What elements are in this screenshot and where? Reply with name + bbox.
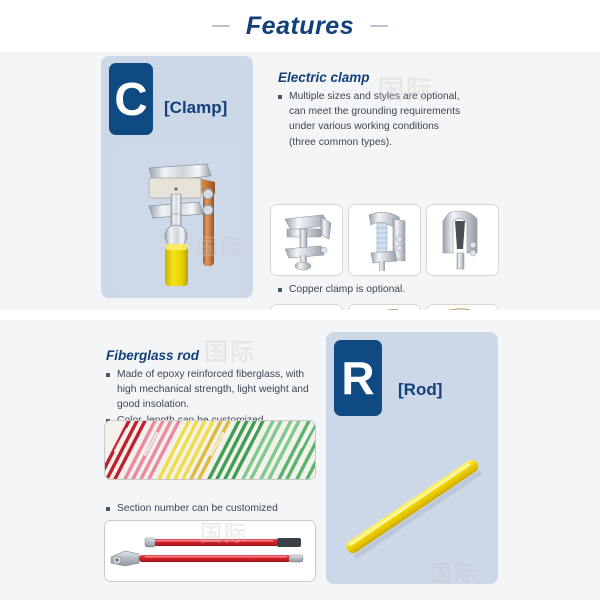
clamp-badge: C [109, 63, 153, 135]
yellow-rod-svg [326, 428, 498, 584]
clamp-photo-1 [270, 204, 343, 276]
header-dash-right [370, 25, 388, 27]
rod-main-photo [326, 428, 498, 584]
clamp-bullet-2: can meet the grounding requirements [278, 105, 508, 119]
rod-panel: R [Rod] [326, 332, 498, 584]
clamp-photo-3 [426, 204, 499, 276]
section-note-item: Section number can be customized [106, 502, 318, 516]
rod-bundle-svg [105, 421, 315, 479]
copper-note-block: Copper clamp is optional. [278, 283, 508, 298]
copper-note-item: Copper clamp is optional. [278, 283, 508, 297]
clamp-panel: C [Clamp] [101, 56, 253, 298]
rod-badge-letter: R [341, 351, 374, 405]
page-title: Features [246, 12, 354, 41]
rod-bullet-text-1: Made of epoxy reinforced fiberglass, wit… [117, 369, 304, 380]
clamp-badge-letter: C [114, 72, 147, 126]
rod-sections-svg [105, 521, 315, 581]
rod-heading: Fiberglass rod [106, 348, 318, 363]
rod-bullet-1: Made of epoxy reinforced fiberglass, wit… [106, 368, 318, 382]
clamp-bullet-4: (three common types). [278, 136, 508, 150]
features-page: Features C [Clamp] [0, 0, 600, 600]
clamp-bullet-1: Multiple sizes and styles are optional, [278, 90, 508, 104]
page-header: Features [0, 0, 600, 52]
bullet-square-icon [106, 373, 110, 377]
bullet-square-icon [278, 95, 282, 99]
rod-badge: R [334, 340, 382, 416]
bullet-square-icon [106, 507, 110, 511]
clamp-photo-svg [119, 148, 235, 290]
rod-bullet-3: good insolation. [106, 398, 318, 412]
rod-bundle-photo [104, 420, 316, 480]
section-note-list: Section number can be customized [106, 502, 318, 516]
clamp-main-photo [119, 148, 235, 290]
clamp-badge-label: [Clamp] [164, 98, 227, 118]
rod-bullet-text-2: high mechanical strength, light weight a… [117, 384, 309, 395]
rod-sections-photo [104, 520, 316, 582]
section-note-text: Section number can be customized [117, 503, 278, 514]
header-dash-left [212, 25, 230, 27]
clamp-bullet-text-3: under various working conditions [289, 121, 439, 132]
section-note-block: Section number can be customized [106, 502, 318, 517]
rod-text-block: Fiberglass rod Made of epoxy reinforced … [106, 348, 318, 429]
clamp-section: C [Clamp] [0, 52, 600, 310]
rod-badge-label: [Rod] [398, 380, 442, 400]
clamp-photo-2 [348, 204, 421, 276]
clamp-type-3-icon [427, 205, 498, 275]
section-divider [0, 310, 600, 320]
clamp-bullet-text-4: (three common types). [289, 137, 392, 148]
clamp-bullet-text-2: can meet the grounding requirements [289, 106, 460, 117]
rod-bullet-text-3: good insolation. [117, 399, 189, 410]
clamp-type-2-icon [349, 205, 420, 275]
copper-note-list: Copper clamp is optional. [278, 283, 508, 297]
clamp-bullet-3: under various working conditions [278, 120, 508, 134]
clamp-text-block: Electric clamp Multiple sizes and styles… [278, 70, 508, 151]
copper-note-text: Copper clamp is optional. [289, 284, 405, 295]
bullet-square-icon [278, 288, 282, 292]
clamp-heading: Electric clamp [278, 70, 508, 85]
clamp-bullet-text-1: Multiple sizes and styles are optional, [289, 91, 460, 102]
clamp-bullet-list: Multiple sizes and styles are optional, … [278, 90, 508, 150]
clamp-type-1-icon [271, 205, 342, 275]
rod-bullet-list: Made of epoxy reinforced fiberglass, wit… [106, 368, 318, 428]
clamp-photo-row [270, 204, 499, 276]
rod-section: Fiberglass rod Made of epoxy reinforced … [0, 320, 600, 600]
rod-bullet-2: high mechanical strength, light weight a… [106, 383, 318, 397]
